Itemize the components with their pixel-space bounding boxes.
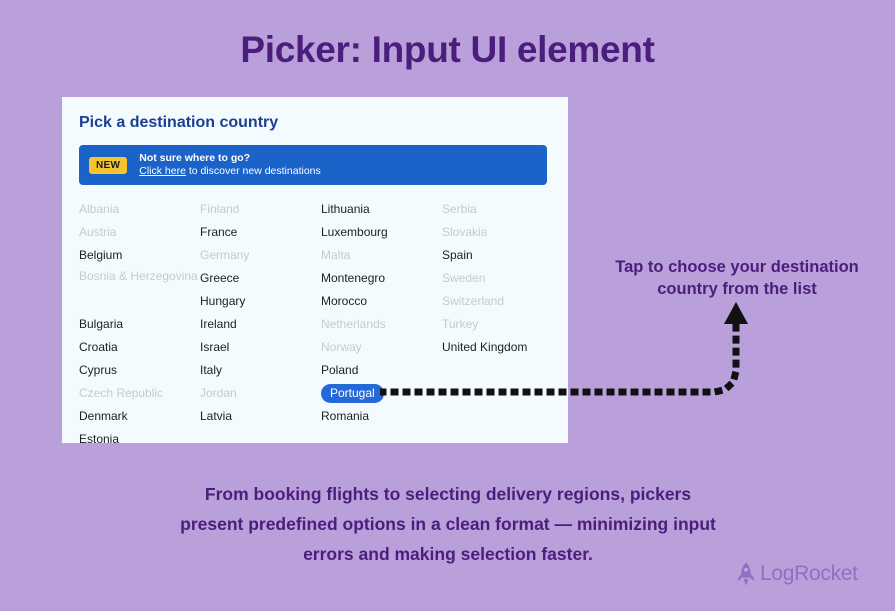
country-option[interactable]: Luxembourg (321, 221, 442, 244)
caption-text: From booking flights to selecting delive… (48, 479, 848, 569)
caption-line-1: From booking flights to selecting delive… (205, 484, 691, 504)
logrocket-wordmark: LogRocket (760, 562, 858, 586)
country-option-disabled: Slovakia (442, 221, 559, 244)
country-option[interactable]: Hungary (200, 290, 321, 313)
promo-banner[interactable]: NEW Not sure where to go? Click here to … (79, 145, 547, 185)
country-option-disabled: Austria (79, 221, 200, 244)
country-option[interactable]: France (200, 221, 321, 244)
country-column-1: AlbaniaAustriaBelgiumBosnia & Herzegovin… (79, 198, 200, 443)
country-option[interactable]: Israel (200, 336, 321, 359)
country-option[interactable]: Lithuania (321, 198, 442, 221)
country-column-2: FinlandFranceGermanyGreeceHungaryIreland… (200, 198, 321, 443)
promo-banner-subline-rest: to discover new destinations (186, 165, 321, 177)
picker-card-title: Pick a destination country (79, 114, 278, 132)
country-option[interactable]: Greece (200, 267, 321, 290)
promo-banner-link[interactable]: Click here (139, 165, 186, 177)
page-title: Picker: Input UI element (0, 29, 895, 71)
country-option[interactable]: Romania (321, 405, 442, 428)
new-badge: NEW (89, 157, 127, 174)
promo-banner-text: Not sure where to go? Click here to disc… (139, 152, 321, 179)
caption-line-2: present predefined options in a clean fo… (180, 514, 716, 534)
country-option-disabled: Germany (200, 244, 321, 267)
country-option[interactable]: Estonia (79, 428, 200, 443)
country-option[interactable]: Denmark (79, 405, 200, 428)
country-option[interactable]: Italy (200, 359, 321, 382)
country-option[interactable]: Spain (442, 244, 559, 267)
country-option[interactable]: Croatia (79, 336, 200, 359)
country-option[interactable]: Latvia (200, 405, 321, 428)
logrocket-logo: LogRocket (735, 562, 858, 586)
country-option-disabled: Finland (200, 198, 321, 221)
annotation-line-1: Tap to choose your destination (615, 258, 859, 276)
country-option[interactable]: Belgium (79, 244, 200, 267)
caption-line-3: errors and making selection faster. (303, 544, 593, 564)
country-option-disabled: Jordan (200, 382, 321, 405)
annotation-callout: Tap to choose your destination country f… (583, 257, 891, 301)
country-option[interactable]: Montenegro (321, 267, 442, 290)
annotation-arrow (380, 296, 755, 406)
country-option-selected[interactable]: Portugal (321, 384, 384, 403)
country-option[interactable]: Ireland (200, 313, 321, 336)
country-option-disabled: Albania (79, 198, 200, 221)
promo-banner-headline: Not sure where to go? (139, 152, 321, 165)
country-option-disabled: Czech Republic (79, 382, 200, 405)
country-option-disabled: Serbia (442, 198, 559, 221)
country-option[interactable]: Bulgaria (79, 313, 200, 336)
country-option-disabled: Sweden (442, 267, 559, 290)
country-option[interactable]: Cyprus (79, 359, 200, 382)
promo-banner-subline: Click here to discover new destinations (139, 165, 321, 178)
rocket-icon (735, 562, 757, 586)
country-option-disabled: Malta (321, 244, 442, 267)
country-option-disabled: Bosnia & Herzegovina (79, 267, 200, 313)
